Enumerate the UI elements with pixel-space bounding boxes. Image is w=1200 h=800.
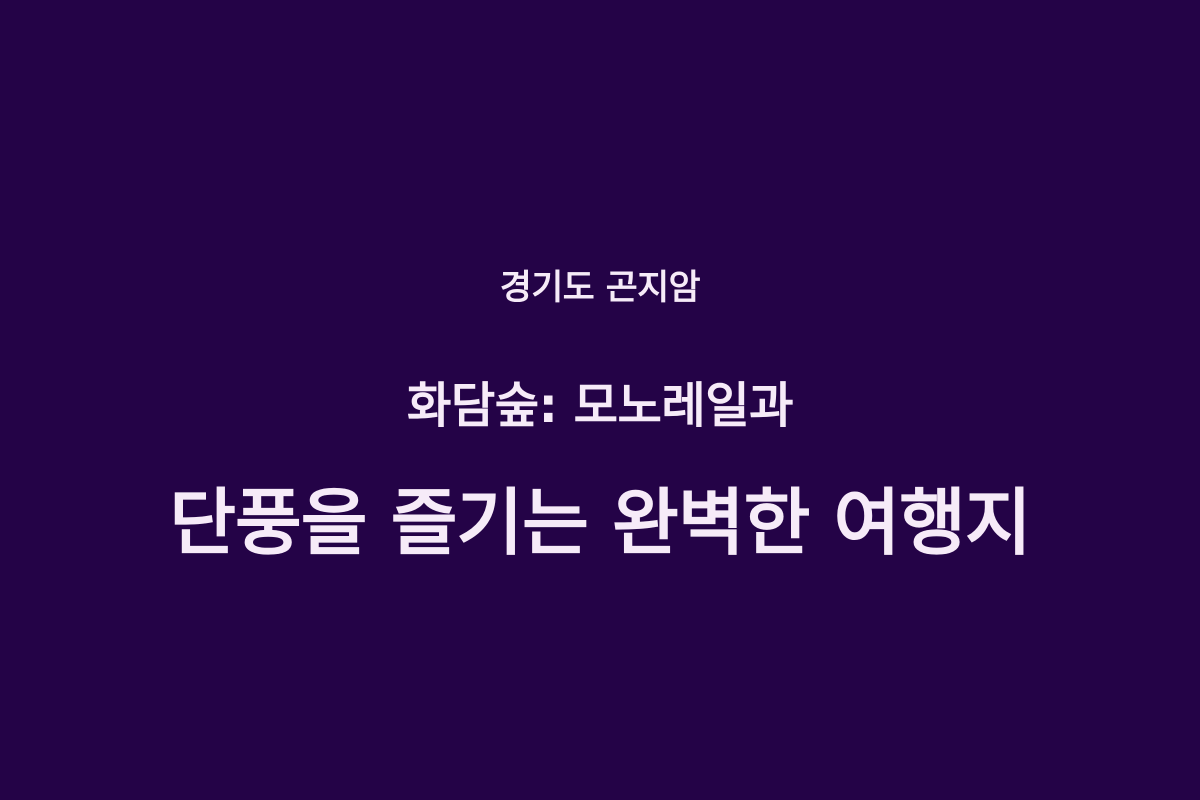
page-title: 경기도 곤지암 화담숲: 모노레일과 단풍을 즐기는 완벽한 여행지 (0, 217, 1200, 583)
title-line-2: 화담숲: 모노레일과 (0, 347, 1200, 465)
title-line-1: 경기도 곤지암 (0, 229, 1200, 347)
title-line-3: 단풍을 즐기는 완벽한 여행지 (0, 465, 1200, 583)
thumbnail-card: 경기도 곤지암 화담숲: 모노레일과 단풍을 즐기는 완벽한 여행지 (0, 0, 1200, 800)
